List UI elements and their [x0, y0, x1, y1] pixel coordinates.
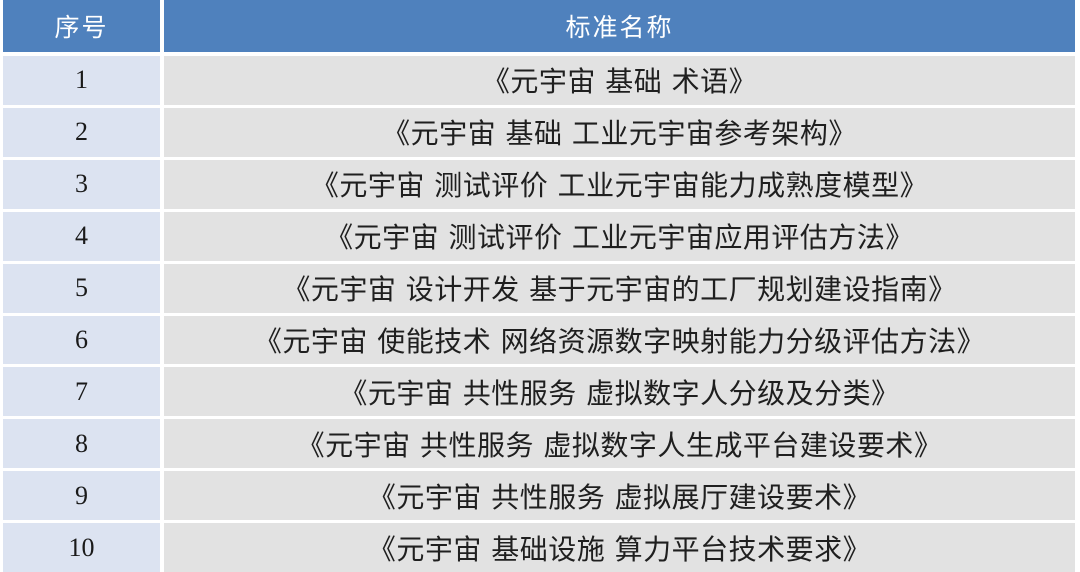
cell-index: 2 — [3, 108, 160, 157]
cell-standard-name: 《元宇宙 共性服务 虚拟数字人分级及分类》 — [164, 367, 1075, 416]
table-row: 1 《元宇宙 基础 术语》 — [3, 56, 1075, 105]
cell-standard-name: 《元宇宙 共性服务 虚拟展厅建设要术》 — [164, 471, 1075, 520]
cell-standard-name: 《元宇宙 基础 术语》 — [164, 56, 1075, 105]
table-row: 5 《元宇宙 设计开发 基于元宇宙的工厂规划建设指南》 — [3, 264, 1075, 313]
table-row: 4 《元宇宙 测试评价 工业元宇宙应用评估方法》 — [3, 212, 1075, 261]
standards-table: 序号 标准名称 1 《元宇宙 基础 术语》 2 《元宇宙 基础 工业元宇宙参考架… — [0, 0, 1080, 572]
cell-index: 9 — [3, 471, 160, 520]
cell-index: 4 — [3, 212, 160, 261]
cell-standard-name: 《元宇宙 设计开发 基于元宇宙的工厂规划建设指南》 — [164, 264, 1075, 313]
table-row: 9 《元宇宙 共性服务 虚拟展厅建设要术》 — [3, 471, 1075, 520]
table-row: 3 《元宇宙 测试评价 工业元宇宙能力成熟度模型》 — [3, 160, 1075, 209]
table-row: 10 《元宇宙 基础设施 算力平台技术要求》 — [3, 523, 1075, 572]
cell-index: 10 — [3, 523, 160, 572]
cell-standard-name: 《元宇宙 共性服务 虚拟数字人生成平台建设要术》 — [164, 419, 1075, 468]
cell-standard-name: 《元宇宙 基础设施 算力平台技术要求》 — [164, 523, 1075, 572]
cell-standard-name: 《元宇宙 测试评价 工业元宇宙应用评估方法》 — [164, 212, 1075, 261]
cell-index: 7 — [3, 367, 160, 416]
cell-index: 1 — [3, 56, 160, 105]
cell-standard-name: 《元宇宙 基础 工业元宇宙参考架构》 — [164, 108, 1075, 157]
table-row: 8 《元宇宙 共性服务 虚拟数字人生成平台建设要术》 — [3, 419, 1075, 468]
table-row: 2 《元宇宙 基础 工业元宇宙参考架构》 — [3, 108, 1075, 157]
cell-index: 5 — [3, 264, 160, 313]
cell-standard-name: 《元宇宙 使能技术 网络资源数字映射能力分级评估方法》 — [164, 316, 1075, 365]
table-row: 6 《元宇宙 使能技术 网络资源数字映射能力分级评估方法》 — [3, 316, 1075, 365]
cell-index: 6 — [3, 316, 160, 365]
cell-index: 8 — [3, 419, 160, 468]
table-row: 7 《元宇宙 共性服务 虚拟数字人分级及分类》 — [3, 367, 1075, 416]
column-header-standard-name: 标准名称 — [164, 0, 1075, 52]
column-header-index: 序号 — [3, 0, 160, 52]
cell-standard-name: 《元宇宙 测试评价 工业元宇宙能力成熟度模型》 — [164, 160, 1075, 209]
cell-index: 3 — [3, 160, 160, 209]
table-header-row: 序号 标准名称 — [3, 0, 1075, 52]
